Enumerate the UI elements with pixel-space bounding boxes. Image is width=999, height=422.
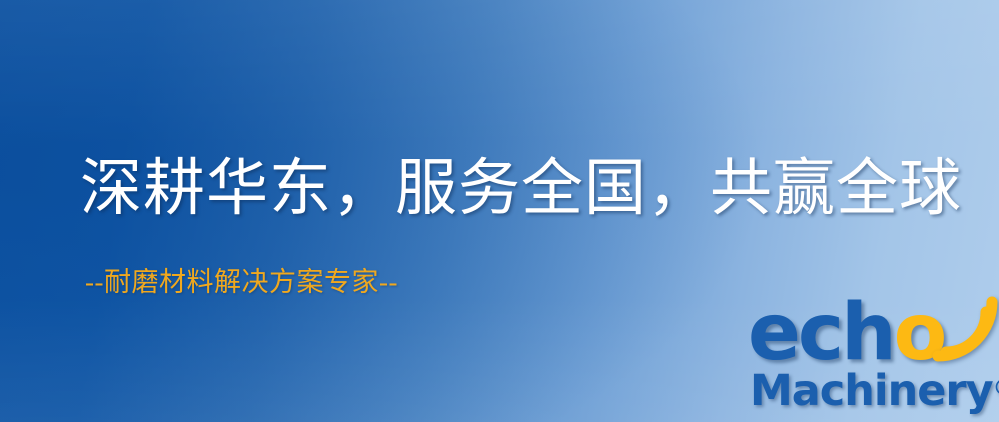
company-logo[interactable]: echo Machinery® — [748, 296, 999, 422]
logo-subtext: Machinery® — [750, 366, 999, 414]
logo-wordmark-echo-prefix: ech — [748, 288, 894, 378]
logo-subtext-label: Machinery — [750, 366, 993, 416]
registered-trademark-icon: ® — [993, 376, 999, 401]
signal-waves-icon — [924, 292, 999, 364]
logo-wordmark: echo — [748, 294, 944, 372]
page-title: 深耕华东，服务全国，共赢全球 — [80, 152, 962, 226]
hero-banner: 深耕华东，服务全国，共赢全球 --耐磨材料解决方案专家-- echo Machi… — [0, 0, 999, 422]
page-subtitle: --耐磨材料解决方案专家-- — [85, 266, 398, 298]
